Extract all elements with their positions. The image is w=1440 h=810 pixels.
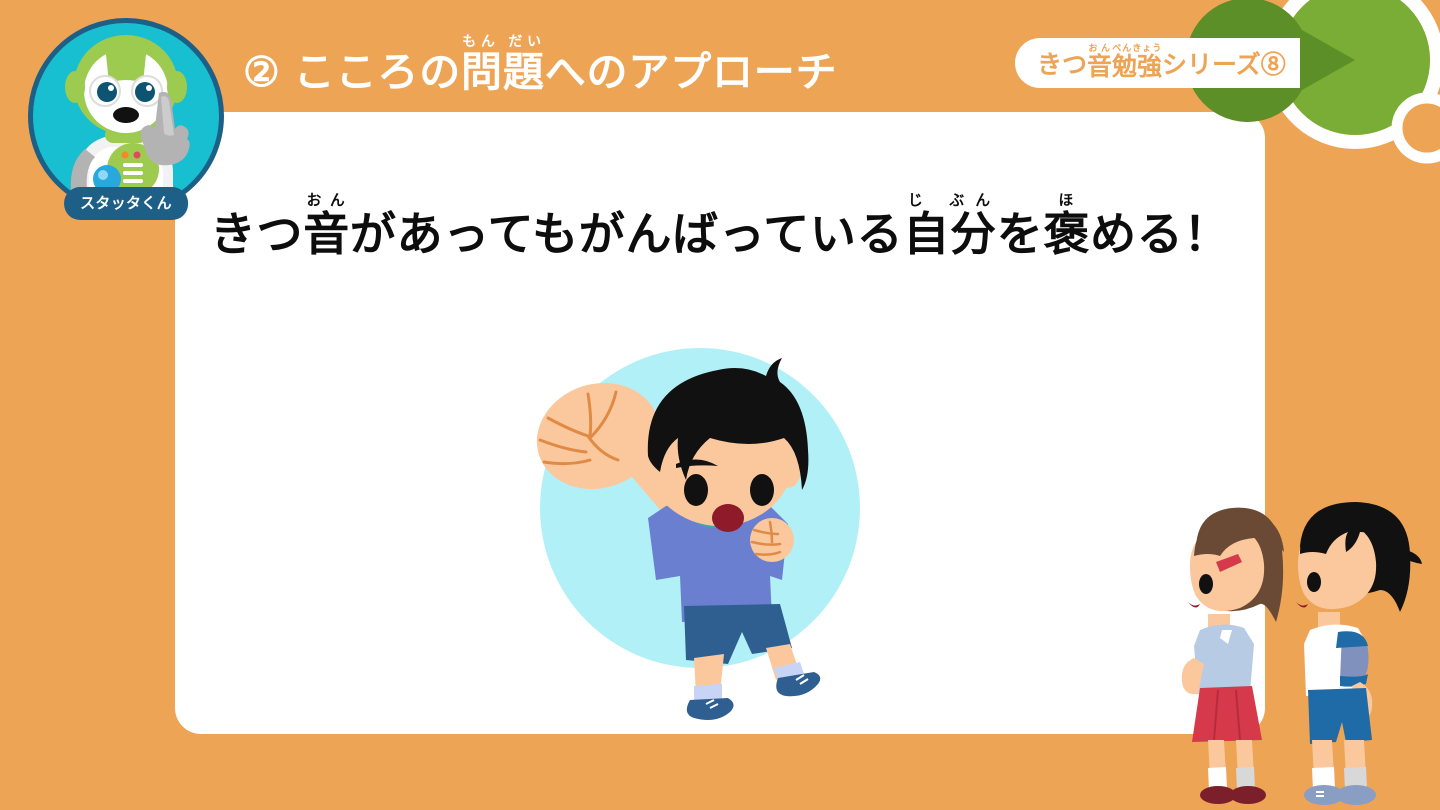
series-ruby-text-1: おん [1087, 43, 1112, 53]
series-ruby-base-2: 勉強 [1112, 53, 1162, 81]
two-children-illustration [1160, 490, 1440, 810]
title-ruby-base: 問題 [461, 49, 545, 95]
title-ruby-text: もん だい [461, 33, 545, 49]
headline-ruby-group-2: 自分じ ぶん [903, 208, 996, 260]
headline-ruby-text-3: ほ [1043, 193, 1090, 209]
series-ruby-text-2: べんきょう [1112, 43, 1162, 53]
girl-figure [1182, 508, 1284, 804]
title-number: ② [243, 52, 280, 93]
green-circle-logo [1260, 0, 1440, 182]
headline-ruby-group-3: 褒ほ [1043, 208, 1090, 260]
slide-root: ② こころの問題もん だいへのアプローチ きつ音おん勉強べんきょうシリーズ⑧ [0, 0, 1440, 810]
title-segment-2: へのアプローチ [545, 49, 838, 95]
headline-ruby-base-2: 自分 [903, 208, 996, 260]
headline-ruby-group-1: 音おん [303, 208, 350, 260]
mascot-circle [28, 18, 224, 214]
boy-figure [1296, 502, 1422, 805]
series-suffix: シリーズ⑧ [1162, 45, 1286, 81]
headline-segment-2: があってもがんばっている [350, 208, 903, 260]
headline-ruby-text-2: じ ぶん [903, 193, 996, 209]
headline-ruby-text-1: おん [303, 193, 350, 209]
robot-mascot-icon [33, 23, 219, 209]
title-segment-1: こころの [294, 49, 461, 95]
headline-ruby-base-1: 音 [303, 208, 350, 260]
series-ruby-group-1: 音おん [1087, 43, 1112, 83]
cheering-boy-illustration [470, 318, 890, 718]
headline-segment-3: を [997, 208, 1044, 260]
series-badge: きつ音おん勉強べんきょうシリーズ⑧ [1015, 38, 1300, 88]
series-prefix: きつ [1037, 45, 1087, 81]
headline-text: きつ音おんがあってもがんばっている自分じ ぶんを褒ほめる！ [0, 193, 1440, 264]
title-ruby-group: 問題もん だい [461, 49, 545, 95]
mascot-badge: スタッタくん [28, 18, 224, 214]
page-title: ② こころの問題もん だいへのアプローチ [243, 28, 837, 98]
headline-ruby-base-3: 褒 [1043, 208, 1090, 260]
series-ruby-group-2: 勉強べんきょう [1112, 43, 1162, 83]
headline-segment-1: きつ [210, 208, 303, 260]
series-ruby-base-1: 音 [1087, 53, 1112, 81]
title-text: こころの問題もん だいへのアプローチ [294, 33, 838, 93]
headline-segment-4: める！ [1090, 208, 1230, 260]
